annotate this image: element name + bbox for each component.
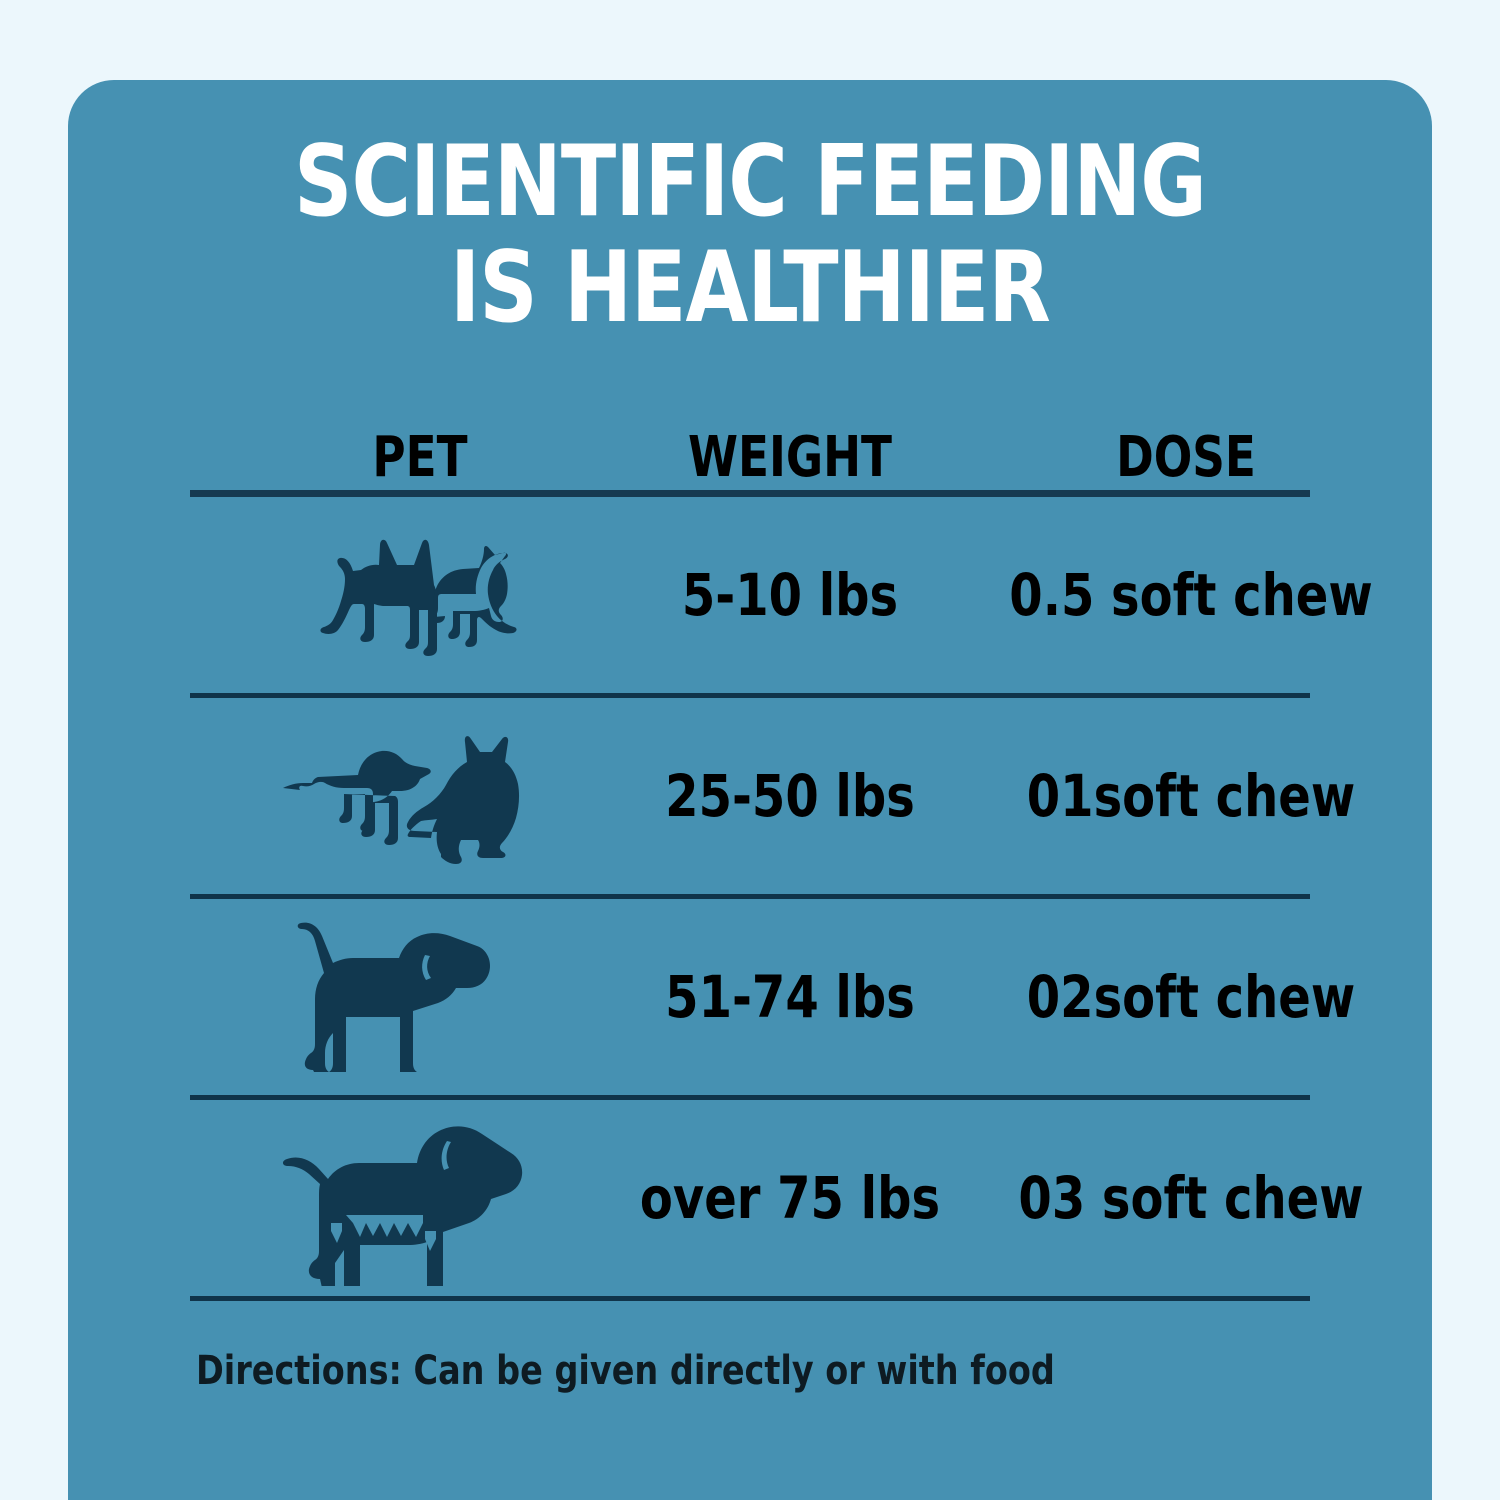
column-header-dose: DOSE [979,425,1393,490]
table-row: 5-10 lbs 0.5 soft chew [190,497,1310,693]
header-divider [190,490,1310,497]
dose-value: 0.5 soft chew [975,497,1407,693]
dose-value: 02soft chew [975,899,1407,1095]
feeding-chart-card: SCIENTIFIC FEEDING IS HEALTHIER PET WEIG… [68,80,1432,1500]
large-dog-icon [265,1111,535,1286]
dachshund-and-sitting-cat-icon [275,726,525,866]
dose-value: 03 soft chew [975,1100,1407,1296]
table-row: 25-50 lbs 01soft chew [190,698,1310,894]
pet-icon-cell [190,497,610,693]
directions-text: Directions: Can be given directly or wit… [196,1348,1055,1394]
weight-value: 5-10 lbs [578,497,1001,693]
weight-value: 51-74 lbs [578,899,1001,1095]
pet-icon-cell [190,1100,610,1296]
page-title: SCIENTIFIC FEEDING IS HEALTHIER [123,130,1378,342]
column-header-pet: PET [213,425,627,490]
table-row: over 75 lbs 03 soft chew [190,1100,1310,1296]
weight-value: over 75 lbs [578,1100,1001,1296]
table-header-row: PET WEIGHT DOSE [190,400,1310,490]
weight-value: 25-50 lbs [578,698,1001,894]
title-line-2: IS HEALTHIER [123,236,1378,342]
row-divider [190,1296,1310,1301]
column-header-weight: WEIGHT [583,425,997,490]
pet-icon-cell [190,899,610,1095]
dose-value: 01soft chew [975,698,1407,894]
medium-dog-icon [283,922,518,1072]
title-line-1: SCIENTIFIC FEEDING [123,130,1378,236]
dosing-table: PET WEIGHT DOSE 5-10 [190,400,1310,1301]
table-row: 51-74 lbs 02soft chew [190,899,1310,1095]
feeding-chart-page: SCIENTIFIC FEEDING IS HEALTHIER PET WEIG… [0,0,1500,1500]
pet-icon-cell [190,698,610,894]
small-dog-and-standing-cat-icon [280,525,520,665]
